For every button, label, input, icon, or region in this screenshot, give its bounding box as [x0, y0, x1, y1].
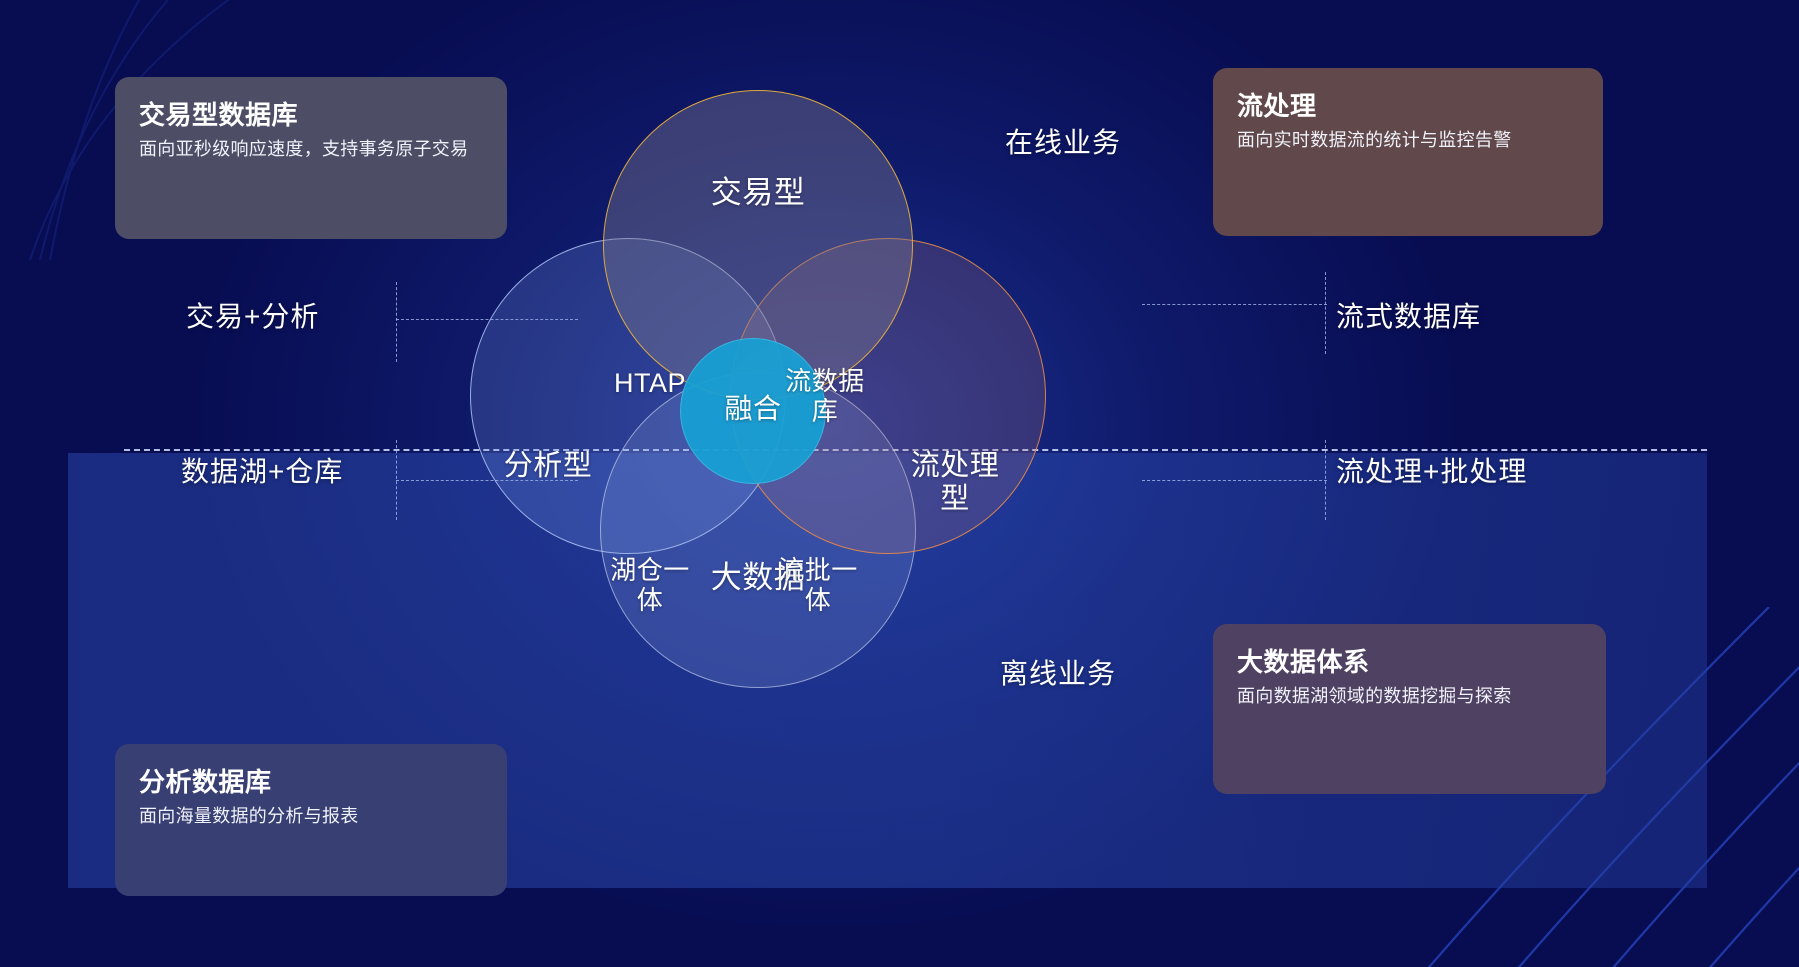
- venn-label-htap: HTAP: [590, 368, 710, 399]
- label-offline-business: 离线业务: [1000, 652, 1116, 692]
- card-title: 交易型数据库: [139, 99, 483, 132]
- card-analytical-database[interactable]: 分析数据库 面向海量数据的分析与报表: [115, 744, 507, 896]
- venn-label-stream-db: 流数据 库: [766, 367, 884, 426]
- card-title: 分析数据库: [139, 766, 483, 799]
- label-stream-plus-batch: 流处理+批处理: [1336, 450, 1527, 490]
- card-description: 面向数据湖领域的数据挖掘与探索: [1237, 683, 1582, 710]
- venn-label-analytical: 分析型: [458, 450, 638, 483]
- diagram-canvas: 交易型 分析型 流处理 型 大数据 融合 HTAP 流数据 库 湖仓一 体 流批…: [0, 0, 1799, 967]
- venn-label-streaming: 流处理 型: [860, 450, 1050, 516]
- card-description: 面向实时数据流的统计与监控告警: [1237, 127, 1579, 154]
- card-transactional-database[interactable]: 交易型数据库 面向亚秒级响应速度，支持事务原子交易: [115, 77, 507, 239]
- card-title: 流处理: [1237, 90, 1579, 123]
- venn-diagram: 交易型 分析型 流处理 型 大数据 融合 HTAP 流数据 库 湖仓一 体 流批…: [448, 90, 1068, 710]
- venn-label-lakehouse: 湖仓一 体: [588, 556, 712, 615]
- card-description: 面向亚秒级响应速度，支持事务原子交易: [139, 136, 483, 163]
- label-streaming-database: 流式数据库: [1336, 295, 1481, 335]
- label-online-business: 在线业务: [1005, 121, 1121, 161]
- label-transaction-plus-analysis: 交易+分析: [186, 295, 319, 335]
- venn-label-stream-batch: 流批一 体: [758, 556, 878, 615]
- card-description: 面向海量数据的分析与报表: [139, 803, 483, 830]
- label-datalake-plus-warehouse: 数据湖+仓库: [181, 450, 343, 490]
- card-title: 大数据体系: [1237, 646, 1582, 679]
- venn-label-transactional: 交易型: [603, 175, 913, 210]
- card-stream-processing[interactable]: 流处理 面向实时数据流的统计与监控告警: [1213, 68, 1603, 236]
- card-bigdata-system[interactable]: 大数据体系 面向数据湖领域的数据挖掘与探索: [1213, 624, 1606, 794]
